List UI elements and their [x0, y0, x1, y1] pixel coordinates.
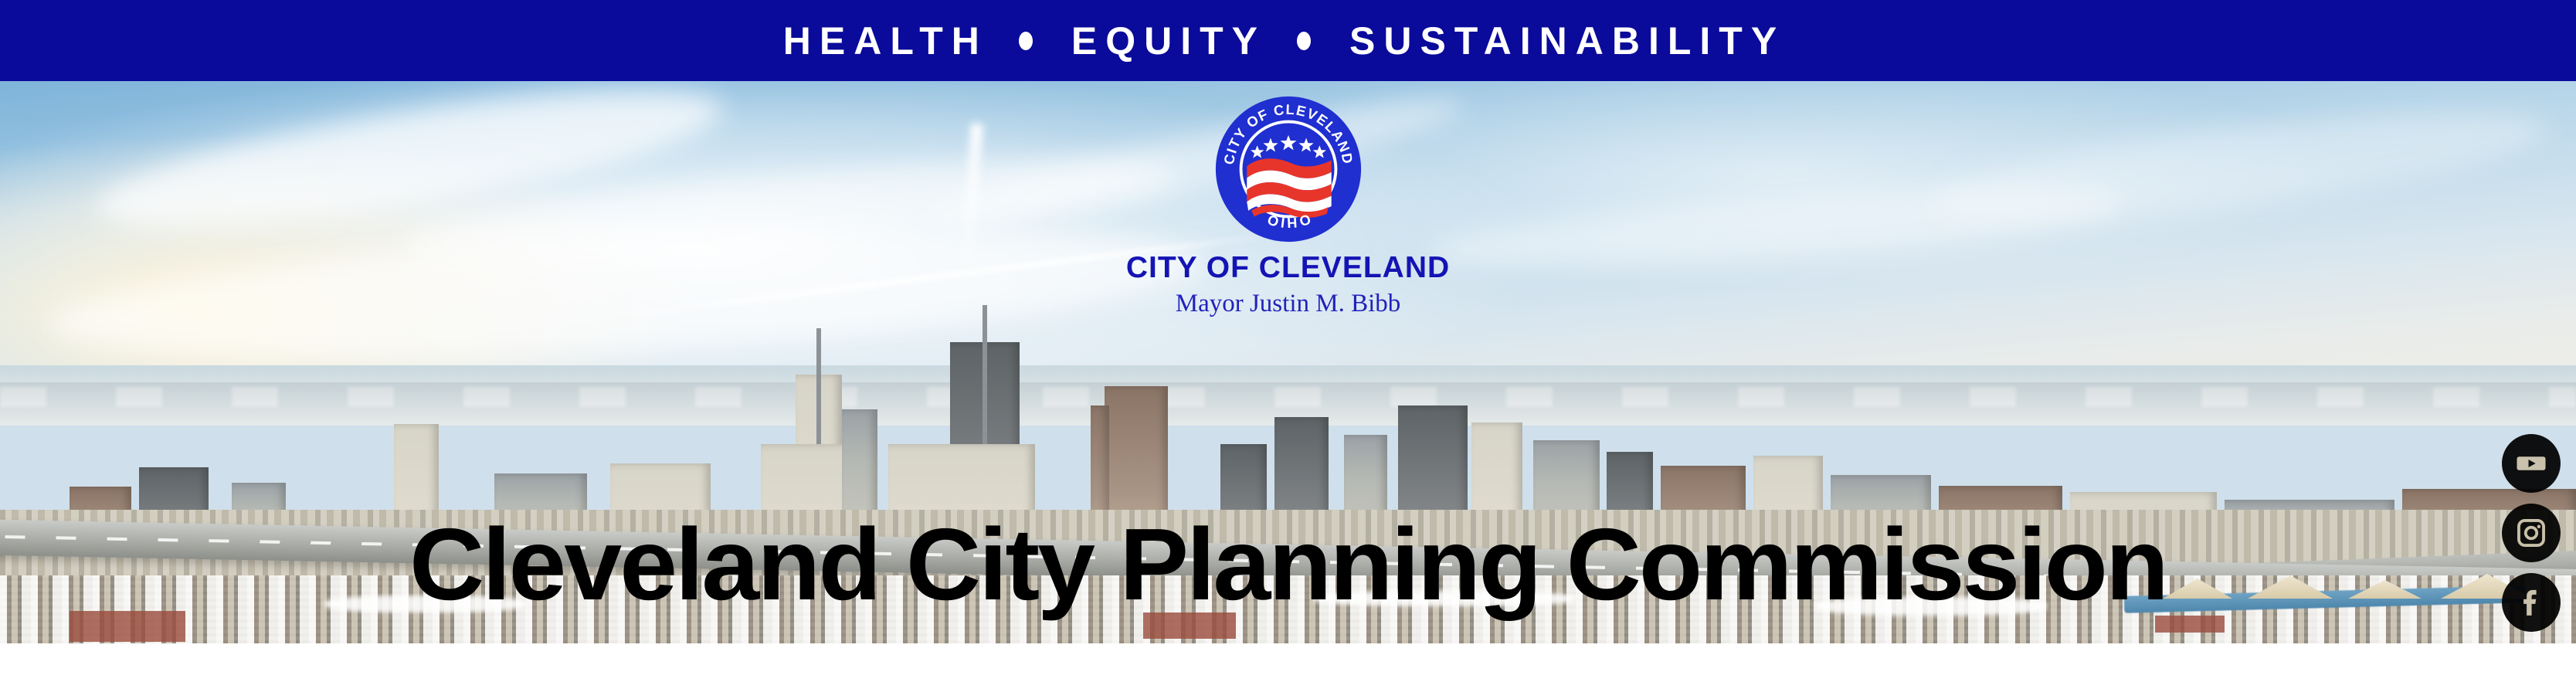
cloud [1929, 90, 2551, 243]
social-link-facebook[interactable] [2502, 573, 2561, 632]
snow-patch [1313, 591, 1576, 606]
slogan-word-health: HEALTH [783, 22, 988, 60]
brick-building [70, 611, 185, 642]
facebook-icon [2514, 585, 2548, 619]
hero-photo: CITY OF CLEVELAND OHIO CITY OF CLEVELAND… [0, 81, 2576, 643]
snow-patch [324, 595, 525, 612]
bullet-dot-icon [1297, 32, 1311, 50]
social-links-rail [2502, 434, 2561, 632]
youtube-icon [2514, 446, 2548, 480]
brick-building [2155, 616, 2225, 633]
social-link-instagram[interactable] [2502, 504, 2561, 562]
social-link-youtube[interactable] [2502, 434, 2561, 493]
bullet-dot-icon [1019, 32, 1033, 50]
slogan-word-sustainability: SUSTAINABILITY [1349, 22, 1785, 60]
brick-building [1143, 612, 1236, 639]
slogan-banner-inner: HEALTH EQUITY SUSTAINABILITY [783, 22, 1785, 60]
snow-patch [1815, 597, 2047, 616]
instagram-icon [2514, 516, 2548, 550]
slogan-banner: HEALTH EQUITY SUSTAINABILITY [0, 0, 2576, 81]
slogan-word-equity: EQUITY [1071, 22, 1266, 60]
